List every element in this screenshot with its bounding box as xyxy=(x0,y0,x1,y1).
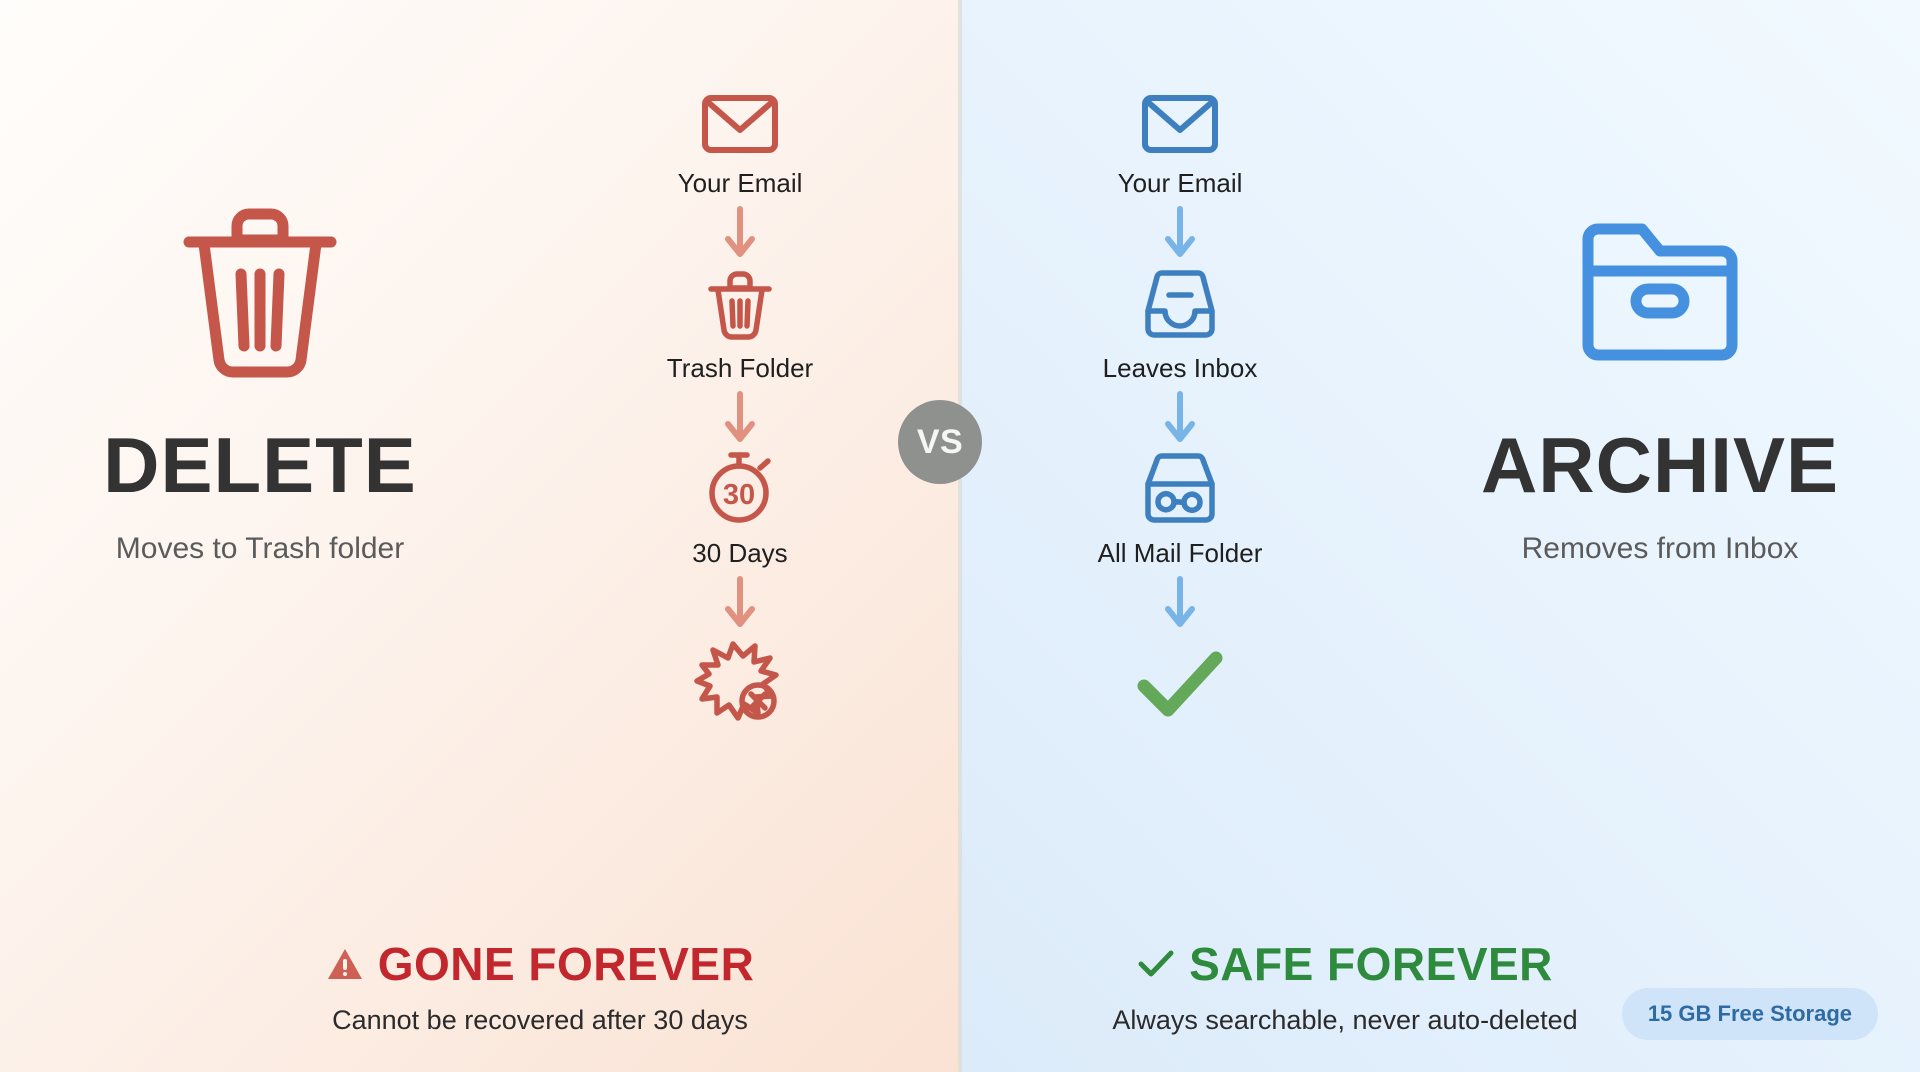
flow-step-trash-folder: Trash Folder xyxy=(667,263,813,384)
flow-arrow-1 xyxy=(1163,205,1197,261)
archive-footer-headline-row: SAFE FOREVER xyxy=(960,937,1730,991)
flow-label-trash-folder: Trash Folder xyxy=(667,353,813,384)
flow-label-your-email: Your Email xyxy=(1118,168,1243,199)
stopwatch-value: 30 xyxy=(723,479,755,511)
inbox-tray-minus-icon xyxy=(1139,263,1221,341)
box-infinity-icon xyxy=(1139,448,1221,526)
warning-triangle-icon xyxy=(326,947,364,981)
envelope-icon xyxy=(1140,78,1220,156)
delete-subtitle: Moves to Trash folder xyxy=(0,532,520,566)
archive-title: ARCHIVE xyxy=(1400,426,1920,504)
delete-footer: GONE FOREVER Cannot be recovered after 3… xyxy=(0,937,960,1036)
envelope-icon xyxy=(700,78,780,156)
flow-arrow-1 xyxy=(723,205,757,261)
delete-footer-headline: GONE FOREVER xyxy=(378,937,755,991)
burst-x-icon xyxy=(694,641,786,725)
flow-arrow-2 xyxy=(723,390,757,446)
trash-can-icon xyxy=(0,196,520,382)
vs-badge: VS xyxy=(898,400,982,484)
flow-arrow-3 xyxy=(723,575,757,631)
flow-step-leaves-inbox: Leaves Inbox xyxy=(1103,263,1258,384)
storage-badge: 15 GB Free Storage xyxy=(1622,988,1878,1040)
flow-step-your-email: Your Email xyxy=(678,78,803,199)
flow-label-all-mail-folder: All Mail Folder xyxy=(1098,538,1263,569)
flow-step-all-mail-folder: All Mail Folder xyxy=(1098,448,1263,569)
trash-can-icon xyxy=(705,263,775,341)
delete-footer-headline-row: GONE FOREVER xyxy=(120,937,960,991)
delete-panel: DELETE Moves to Trash folder Your Email xyxy=(0,0,960,1072)
flow-step-your-email: Your Email xyxy=(1118,78,1243,199)
flow-step-destroyed xyxy=(694,641,786,725)
archive-flow: Your Email xyxy=(1000,78,1360,725)
check-mark-icon xyxy=(1137,949,1175,979)
archive-footer-subtext: Always searchable, never auto-deleted xyxy=(960,1005,1730,1036)
delete-hero: DELETE Moves to Trash folder xyxy=(0,196,520,566)
delete-footer-subtext: Cannot be recovered after 30 days xyxy=(120,1005,960,1036)
stopwatch-30-icon: 30 xyxy=(700,448,780,526)
delete-title: DELETE xyxy=(0,426,520,504)
archive-hero: ARCHIVE Removes from Inbox xyxy=(1400,196,1920,566)
check-mark-icon xyxy=(1136,648,1224,718)
delete-flow: Your Email xyxy=(560,78,920,725)
flow-arrow-3 xyxy=(1163,575,1197,631)
flow-arrow-2 xyxy=(1163,390,1197,446)
panel-divider xyxy=(958,0,962,1072)
archive-subtitle: Removes from Inbox xyxy=(1400,532,1920,566)
archive-folder-icon xyxy=(1400,196,1920,382)
flow-step-30-days: 30 30 Days xyxy=(692,448,787,569)
flow-label-30-days: 30 Days xyxy=(692,538,787,569)
archive-footer-headline: SAFE FOREVER xyxy=(1189,937,1553,991)
flow-step-success xyxy=(1136,641,1224,725)
flow-label-your-email: Your Email xyxy=(678,168,803,199)
infographic-canvas: DELETE Moves to Trash folder Your Email xyxy=(0,0,1920,1072)
archive-panel: Your Email xyxy=(960,0,1920,1072)
flow-label-leaves-inbox: Leaves Inbox xyxy=(1103,353,1258,384)
